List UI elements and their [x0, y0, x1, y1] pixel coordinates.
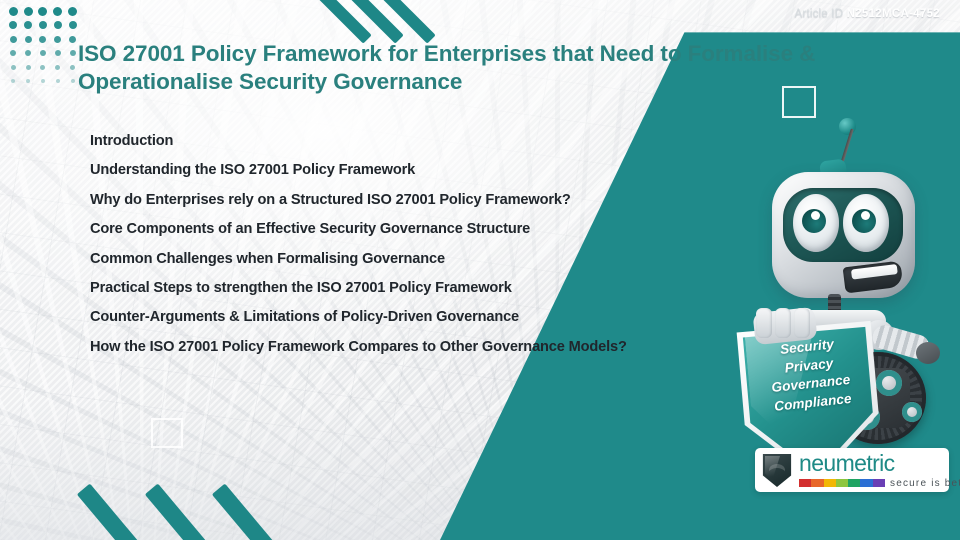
neumetric-wordmark: neumetric [799, 452, 941, 475]
decor-stripes-bottom-left [106, 452, 336, 540]
article-id: Article ID N2512MCA-4752 [795, 8, 940, 20]
robot-eye-glint-left [811, 211, 820, 220]
decor-square-outline-bottom [151, 418, 183, 448]
list-item[interactable]: Introduction [90, 134, 710, 149]
robot-wheel-bolt-1 [876, 370, 902, 396]
robot-fingers-left [756, 308, 816, 338]
neumetric-logo-subrow: secure is better [799, 478, 941, 489]
article-id-label: Article ID [795, 8, 844, 20]
slide-canvas: Article ID N2512MCA-4752 ISO 27001 Polic… [0, 0, 960, 540]
robot-shield-text: Security Privacy Governance Compliance [750, 332, 869, 417]
neumetric-logo-text: neumetric secure is better [799, 452, 941, 489]
list-item[interactable]: Counter-Arguments & Limitations of Polic… [90, 310, 710, 325]
robot-mascot: Security Privacy Governance Compliance [726, 112, 960, 430]
rainbow-segment [811, 479, 823, 487]
list-item[interactable]: How the ISO 27001 Policy Framework Compa… [90, 340, 710, 355]
neumetric-logo[interactable]: neumetric secure is better [755, 448, 949, 492]
list-item[interactable]: Why do Enterprises rely on a Structured … [90, 193, 710, 208]
robot-antenna-ball-icon [839, 118, 856, 135]
neumetric-shield-icon [762, 453, 792, 487]
list-item[interactable]: Practical Steps to strengthen the ISO 27… [90, 281, 710, 296]
robot-teeth [851, 264, 898, 280]
rainbow-segment [873, 479, 885, 487]
robot-hand-right [916, 342, 940, 364]
rainbow-segment [799, 479, 811, 487]
list-item[interactable]: Core Components of an Effective Security… [90, 222, 710, 237]
article-id-value: N2512MCA-4752 [847, 8, 940, 20]
decor-dot-grid [6, 4, 80, 88]
list-item[interactable]: Common Challenges when Formalising Gover… [90, 252, 710, 267]
neumetric-tagline: secure is better [890, 478, 960, 489]
robot-eye-glint-right [861, 211, 870, 220]
robot-wheel-bolt-3 [902, 402, 922, 422]
rainbow-segment [860, 479, 872, 487]
neumetric-rainbow-bar [799, 479, 885, 487]
rainbow-segment [848, 479, 860, 487]
rainbow-segment [836, 479, 848, 487]
rainbow-segment [824, 479, 836, 487]
page-title: ISO 27001 Policy Framework for Enterpris… [78, 40, 923, 96]
table-of-contents: Introduction Understanding the ISO 27001… [90, 134, 710, 369]
list-item[interactable]: Understanding the ISO 27001 Policy Frame… [90, 163, 710, 178]
